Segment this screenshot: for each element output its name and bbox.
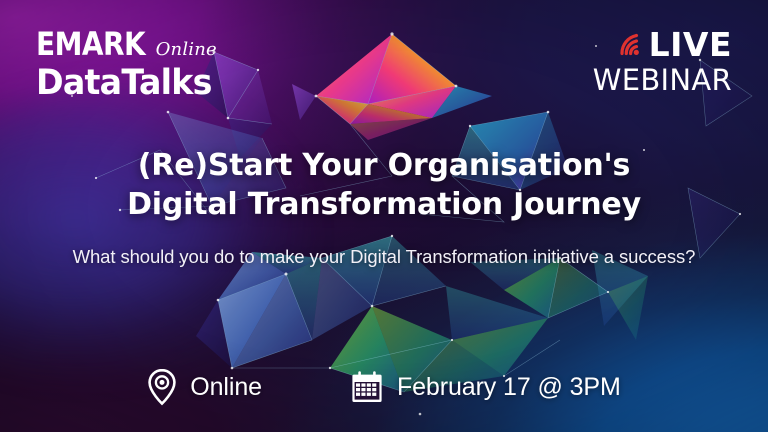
webinar-label: WEBINAR [593, 66, 732, 95]
event-datetime: February 17 @ 3PM [350, 370, 621, 404]
live-label: LIVE [649, 28, 732, 61]
live-webinar-badge: LIVE WEBINAR [593, 28, 732, 95]
logo-brand-emark: EMARK [36, 28, 145, 60]
calendar-icon [350, 370, 384, 404]
logo-product-datatalks: DataTalks [36, 66, 212, 101]
event-datetime-label: February 17 @ 3PM [397, 373, 621, 402]
live-row: LIVE [593, 28, 732, 61]
logo-top-row: EMARK Online [36, 28, 221, 60]
broadcast-signal-icon [616, 32, 642, 58]
location-pin-icon [147, 368, 177, 406]
page-title: (Re)Start Your Organisation's Digital Tr… [0, 146, 768, 224]
webinar-banner: EMARK Online DataTalks LIVE WEBINAR ( [0, 0, 768, 432]
event-location: Online [147, 368, 262, 406]
logo-qualifier-online: Online [156, 41, 217, 59]
event-location-label: Online [190, 373, 262, 402]
emark-datatalks-logo[interactable]: EMARK Online DataTalks [36, 28, 221, 101]
subheadline: What should you do to make your Digital … [0, 246, 768, 268]
headline-line-2: Digital Transformation Journey [0, 185, 768, 224]
event-details-bar: Online [0, 368, 768, 406]
headline-line-1: (Re)Start Your Organisation's [0, 146, 768, 185]
